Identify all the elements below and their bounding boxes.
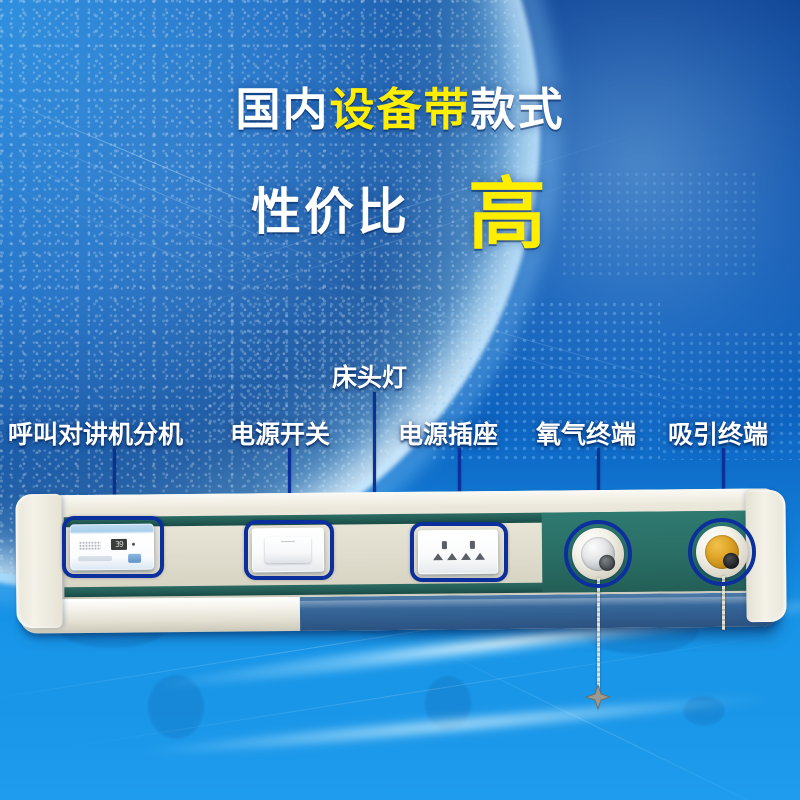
oxygen-pull-cord[interactable]: [597, 578, 600, 698]
headline-text-domestic: 国内: [235, 83, 329, 136]
highlight-box-power-switch: [244, 520, 334, 580]
highlight-box-power-socket: [410, 522, 508, 582]
callout-label-power-switch: 电源开关: [230, 415, 330, 451]
headline-text-equipment-belt: 设备带: [329, 83, 470, 136]
callout-label-oxygen-terminal: 氧气终端: [536, 415, 636, 451]
panel-end-cap-left: [15, 494, 62, 628]
highlight-box-nurse-call: [62, 516, 164, 578]
callout-label-nurse-call: 呼叫对讲机分机: [8, 415, 183, 451]
highlight-circle-oxygen: [564, 520, 632, 588]
product-banner: 国内设备带款式 性价比高 呼叫对讲机分机 电源开关 床头灯 电源插座 氧气终端 …: [0, 0, 800, 800]
pull-cord-handle-icon[interactable]: [585, 684, 611, 710]
callout-label-bed-lamp: 床头灯: [332, 358, 407, 394]
callout-label-power-socket: 电源插座: [398, 415, 498, 451]
headline-text-style: 款式: [471, 83, 565, 136]
headline-line-2: 性价比高: [0, 152, 800, 264]
panel-lower-rail: [20, 592, 780, 633]
headline-text-value-ratio: 性价比: [251, 183, 410, 241]
headline-text-high: 高: [468, 170, 549, 260]
callout-label-suction-terminal: 吸引终端: [668, 415, 768, 451]
rail-blue-segment: [300, 592, 780, 631]
headline-line-1: 国内设备带款式: [0, 84, 800, 136]
highlight-circle-suction: [688, 518, 756, 586]
